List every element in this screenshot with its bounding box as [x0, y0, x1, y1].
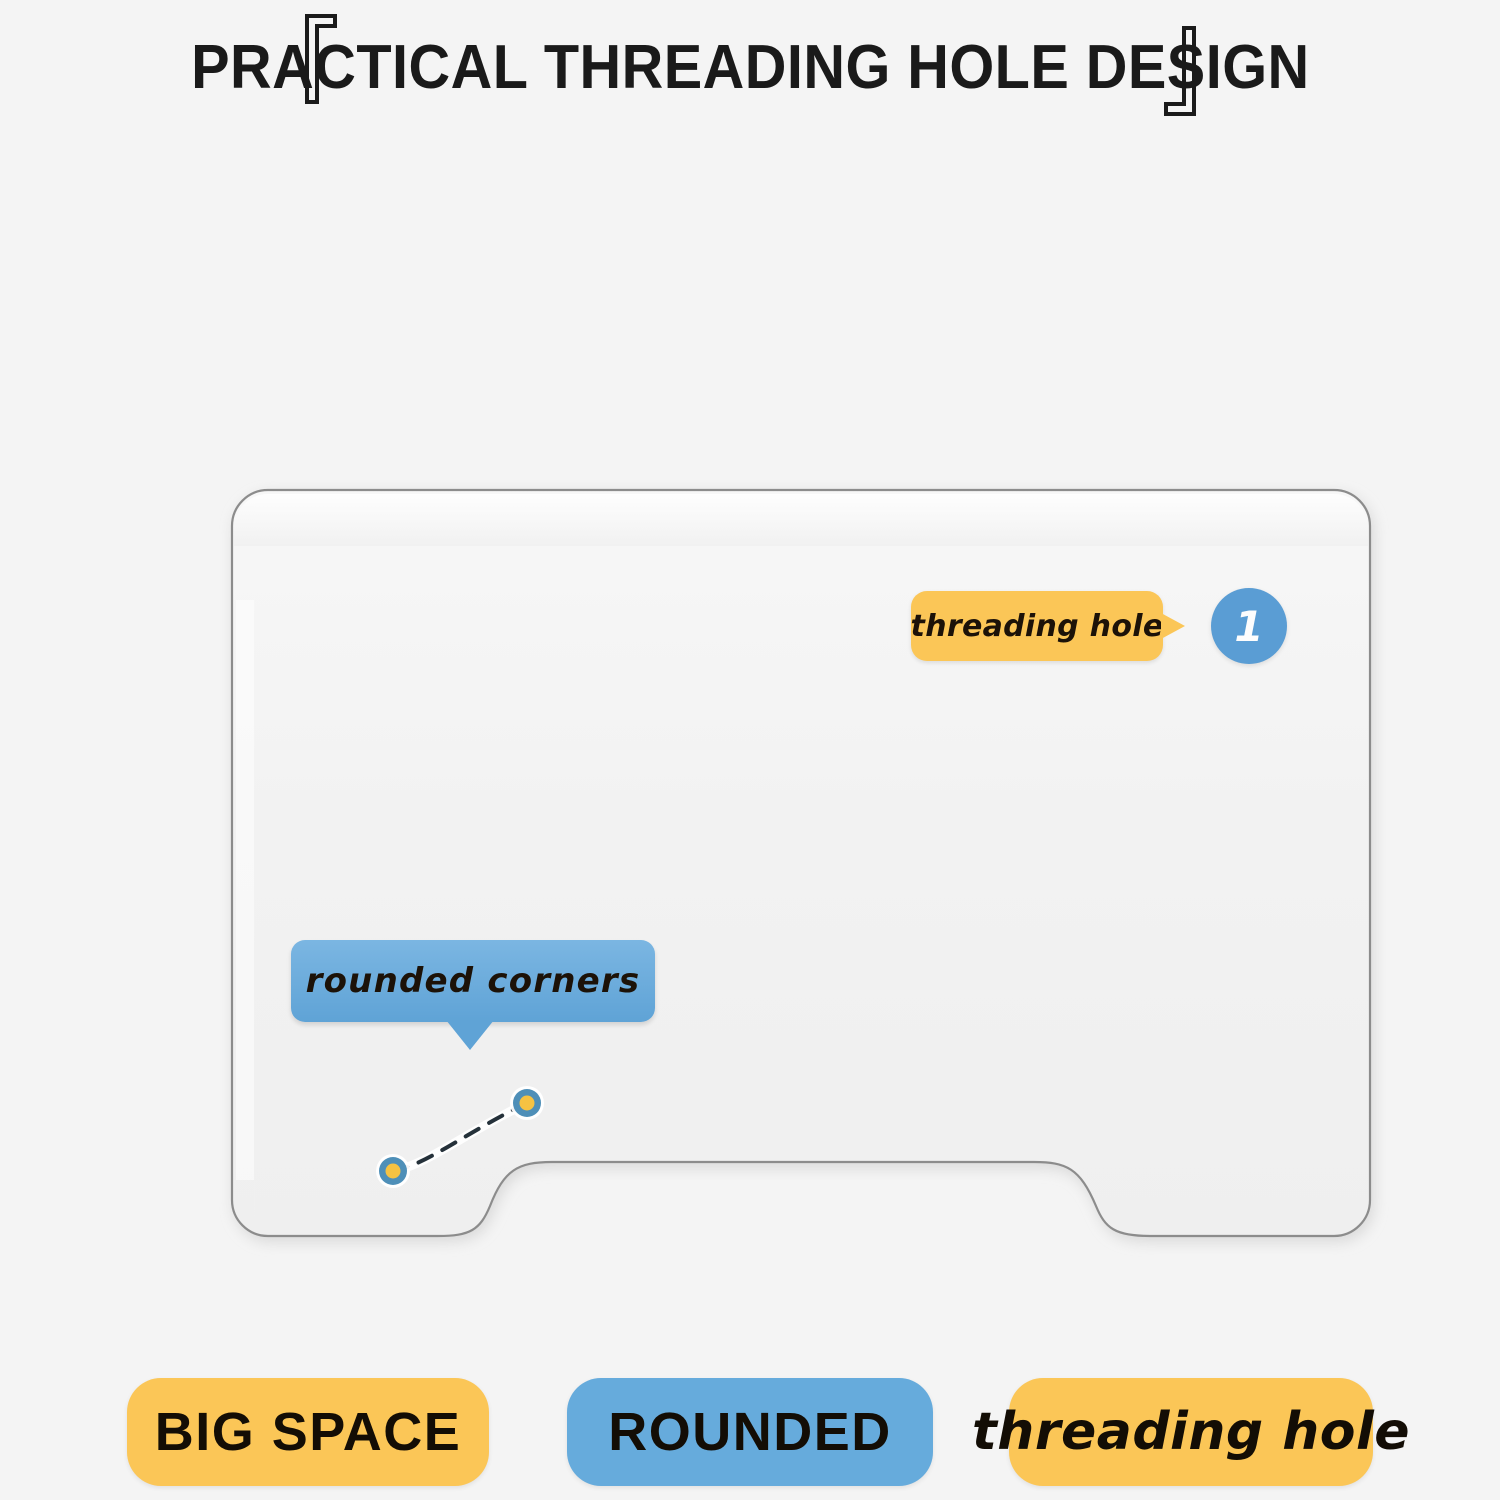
diagram-canvas: PRACTICAL THREADING HOLE DESIGN [0, 0, 1500, 1500]
feature-pill-row: BIG SPACE ROUNDED threading hole [0, 1378, 1500, 1488]
callout-tail-right-icon [1161, 613, 1185, 639]
annotation-marker-icon [376, 1154, 410, 1188]
feature-pill-big-space[interactable]: BIG SPACE [127, 1378, 489, 1486]
corner-bracket-close-icon [1164, 26, 1198, 118]
annotation-marker-icon [510, 1086, 544, 1120]
corner-bracket-open-icon [303, 12, 337, 104]
callout-rounded-corners-label: rounded corners [306, 961, 641, 1001]
feature-pill-rounded-label: ROUNDED [608, 1401, 892, 1463]
callout-rounded-corners[interactable]: rounded corners [291, 940, 655, 1022]
callout-threading-hole[interactable]: threading hole [911, 591, 1163, 661]
feature-pill-big-space-label: BIG SPACE [155, 1401, 462, 1463]
step-badge-number: 1 [1234, 602, 1263, 651]
feature-pill-threading-hole[interactable]: threading hole [1009, 1378, 1373, 1486]
corner-annotation-markers [340, 1060, 600, 1220]
callout-threading-hole-label: threading hole [911, 609, 1164, 644]
step-badge-1[interactable]: 1 [1211, 588, 1287, 664]
page-title: PRACTICAL THREADING HOLE DESIGN [191, 37, 1310, 99]
feature-pill-rounded[interactable]: ROUNDED [567, 1378, 933, 1486]
callout-tail-down-icon [446, 1020, 494, 1050]
feature-pill-threading-hole-label: threading hole [972, 1402, 1410, 1462]
page-title-row: PRACTICAL THREADING HOLE DESIGN [0, 18, 1500, 118]
